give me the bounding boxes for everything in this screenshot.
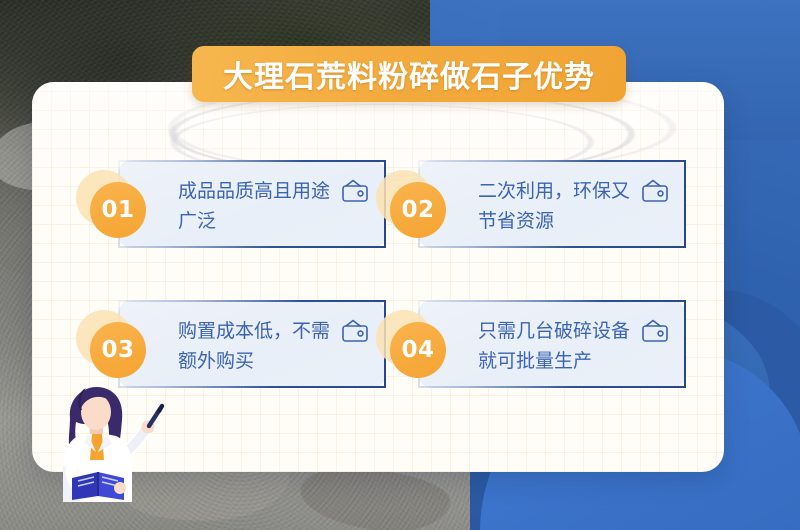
- feature-number-badge: 03: [76, 310, 152, 380]
- badge-number: 01: [101, 197, 134, 223]
- feature-number-badge: 04: [376, 310, 452, 380]
- badge-number: 03: [101, 337, 134, 363]
- feature-item-01[interactable]: 成品品质高且用途广泛 01: [118, 160, 386, 248]
- feature-number-badge: 02: [376, 170, 452, 240]
- feature-label: 购置成本低，不需额外购买: [178, 316, 338, 376]
- title-banner: 大理石荒料粉碎做石子优势: [192, 46, 626, 102]
- wallet-icon: [340, 178, 370, 204]
- badge-circle: 01: [90, 182, 146, 238]
- infographic-canvas: 成品品质高且用途广泛 01: [0, 0, 800, 530]
- badge-circle: 02: [390, 182, 446, 238]
- feature-label: 只需几台破碎设备就可批量生产: [478, 316, 638, 376]
- badge-number: 04: [401, 337, 434, 363]
- feature-item-02[interactable]: 二次利用，环保又节省资源 02: [418, 160, 686, 248]
- badge-circle: 03: [90, 322, 146, 378]
- feature-card[interactable]: 购置成本低，不需额外购买: [118, 300, 386, 388]
- feature-number-badge: 01: [76, 170, 152, 240]
- badge-circle: 04: [390, 322, 446, 378]
- feature-label: 二次利用，环保又节省资源: [478, 176, 638, 236]
- wallet-icon: [340, 318, 370, 344]
- page-title: 大理石荒料粉碎做石子优势: [223, 52, 595, 96]
- feature-item-04[interactable]: 只需几台破碎设备就可批量生产 04: [418, 300, 686, 388]
- presenter-illustration: [36, 382, 176, 502]
- wallet-icon: [640, 318, 670, 344]
- feature-card[interactable]: 只需几台破碎设备就可批量生产: [418, 300, 686, 388]
- badge-number: 02: [401, 197, 434, 223]
- wallet-icon: [640, 178, 670, 204]
- feature-item-03[interactable]: 购置成本低，不需额外购买 03: [118, 300, 386, 388]
- feature-card[interactable]: 二次利用，环保又节省资源: [418, 160, 686, 248]
- feature-card[interactable]: 成品品质高且用途广泛: [118, 160, 386, 248]
- feature-label: 成品品质高且用途广泛: [178, 176, 338, 236]
